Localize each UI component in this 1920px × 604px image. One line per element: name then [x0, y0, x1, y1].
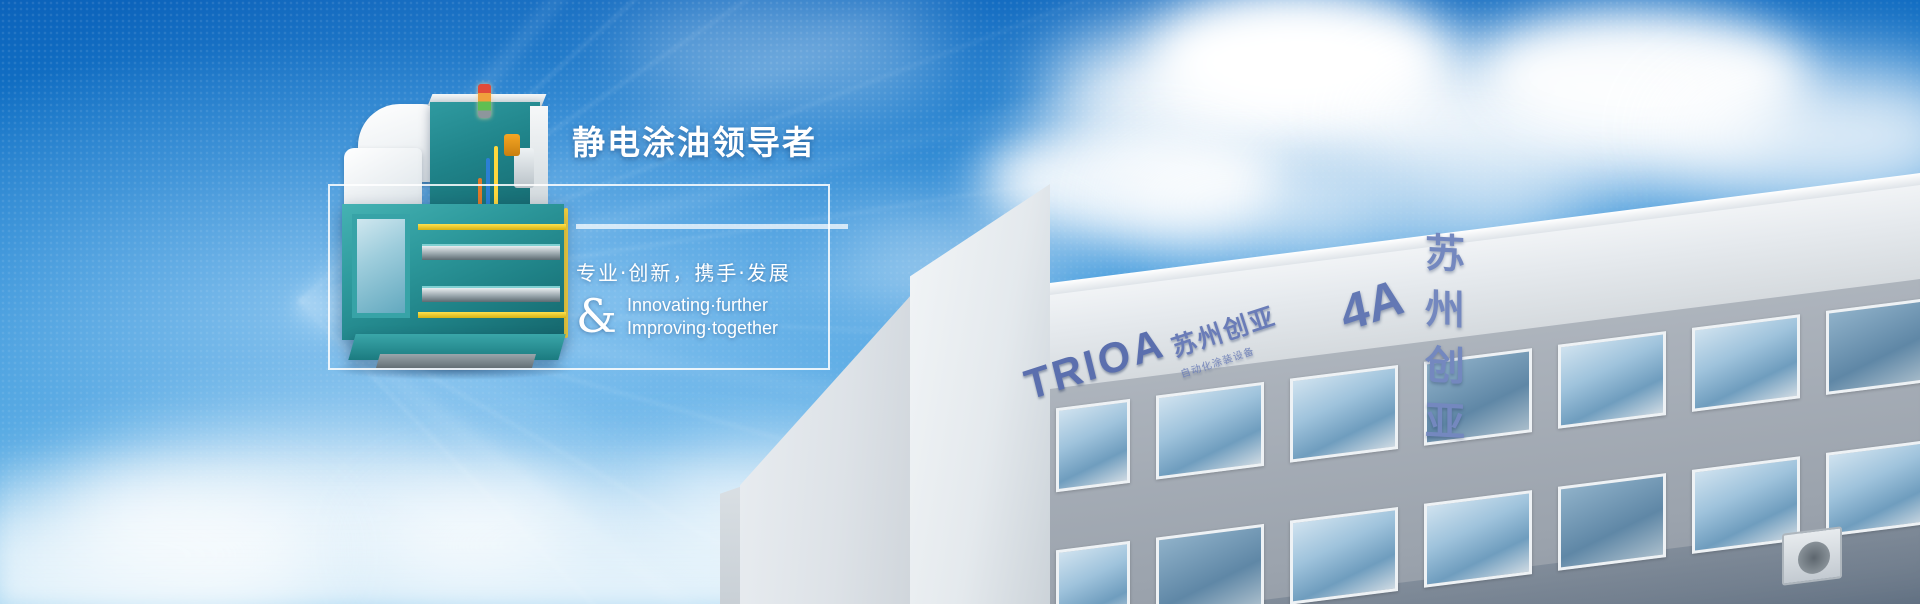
subtitle-chinese: 专业·创新，携手·发展 [576, 257, 791, 286]
english-lines: Innovating·further Improving·together [627, 294, 778, 340]
machine-signal-tower-light [478, 84, 491, 118]
english-line-1: Innovating·further [627, 295, 768, 315]
divider-rule [576, 224, 848, 229]
hero-banner: TRIOA 苏州创亚 自动化涂装设备 4A 苏州创亚 静电涂 [0, 0, 1920, 604]
english-tagline: & Innovating·further Improving·together [576, 294, 778, 340]
machine-valve [504, 134, 520, 156]
ground-haze [0, 444, 900, 604]
english-line-2: Improving·together [627, 318, 778, 338]
page-title: 静电涂油领导者 [572, 124, 848, 162]
hero-copy: 静电涂油领导者 专业·创新，携手·发展 & Innovating·further… [572, 124, 848, 162]
ampersand-glyph: & [576, 297, 617, 337]
